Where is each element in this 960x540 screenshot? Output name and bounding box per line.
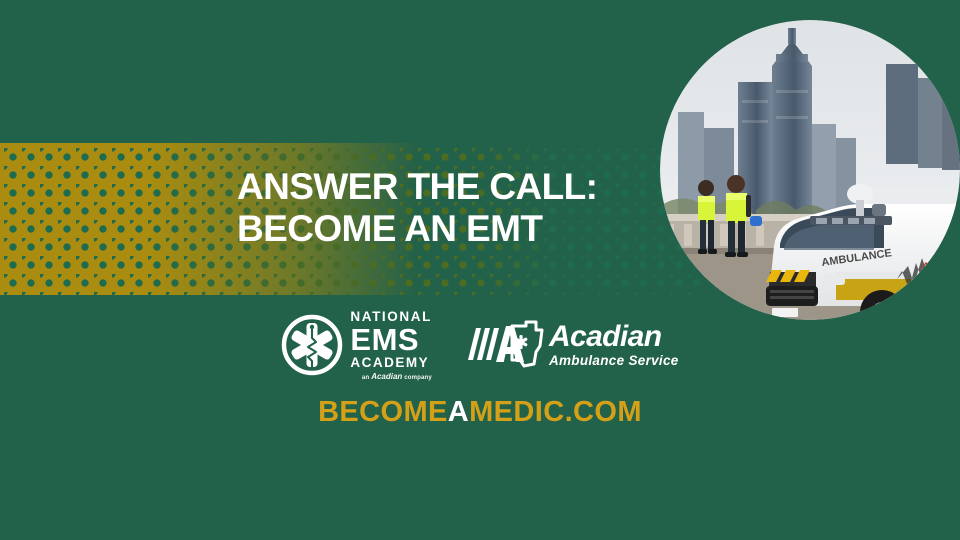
hero-photo: AMBULANCE 4863	[660, 20, 960, 320]
nema-line-ems: EMS	[350, 324, 419, 355]
nema-line-academy: ACADEMY	[350, 356, 429, 370]
nema-tagline-pre: an	[362, 375, 369, 381]
svg-text:4863: 4863	[922, 261, 946, 273]
url-prefix: BECOME	[318, 396, 448, 428]
acadian-name: Acadian	[549, 322, 662, 352]
acadian-ambulance-logo: Acadian Ambulance Service	[466, 320, 679, 370]
logo-row: NATIONAL EMS ACADEMY an Acadian company	[0, 306, 960, 384]
nema-wordmark: NATIONAL EMS ACADEMY an Acadian company	[350, 310, 432, 381]
url-suffix: MEDIC.COM	[469, 396, 642, 428]
nema-tagline-brand: Acadian	[371, 372, 402, 381]
nema-tagline: an Acadian company	[362, 373, 432, 381]
acadian-texas-a-icon	[466, 320, 544, 370]
ad-banner: ANSWER THE CALL: BECOME AN EMT	[0, 0, 960, 540]
nema-line-national: NATIONAL	[350, 310, 432, 324]
star-of-life-icon	[281, 314, 343, 376]
headline: ANSWER THE CALL: BECOME AN EMT	[237, 166, 597, 250]
website-url[interactable]: BECOMEAMEDIC.COM	[0, 396, 960, 429]
url-highlight-a: A	[448, 396, 469, 428]
hero-photo-illustration: AMBULANCE 4863	[660, 20, 960, 320]
national-ems-academy-logo: NATIONAL EMS ACADEMY an Acadian company	[281, 310, 432, 381]
acadian-subtitle: Ambulance Service	[549, 354, 679, 368]
nema-tagline-post: company	[404, 375, 432, 381]
acadian-wordmark: Acadian Ambulance Service	[549, 322, 679, 368]
